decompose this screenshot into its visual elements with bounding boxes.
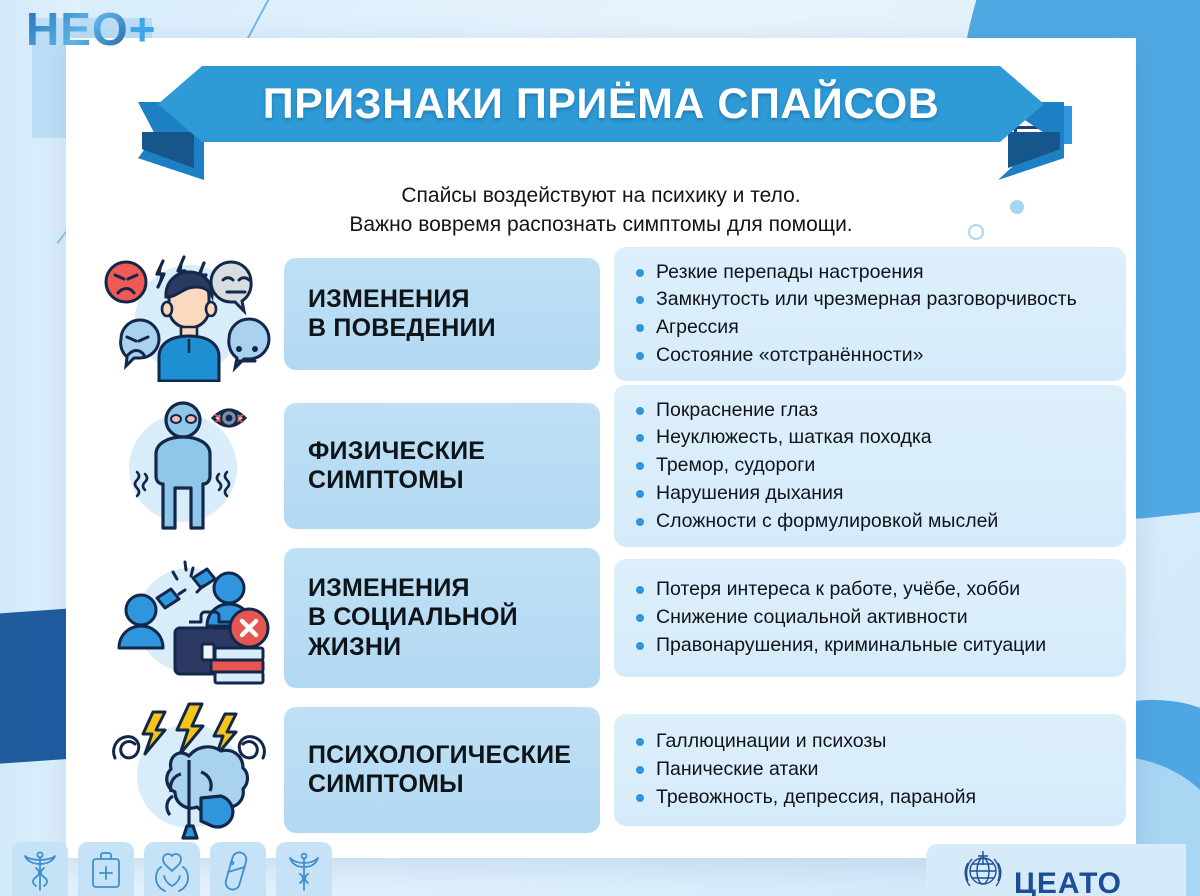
label-line: СИМПТОМЫ: [308, 770, 571, 800]
section-label-psychological: ПСИХОЛОГИЧЕСКИЕ СИМПТОМЫ: [284, 707, 600, 833]
label-line: ИЗМЕНЕНИЯ: [308, 574, 518, 604]
subtitle: Спайсы воздействуют на психику и тело. В…: [66, 182, 1136, 240]
section-label-text: ИЗМЕНЕНИЯ В ПОВЕДЕНИИ: [308, 285, 496, 344]
list-item: Неуклюжесть, шаткая походка: [634, 424, 998, 452]
subtitle-line-2: Важно вовремя распознать симптомы для по…: [66, 211, 1136, 240]
bullet-list: Галлюцинации и психозы Панические атаки …: [634, 728, 976, 811]
list-item: Снижение социальной активности: [634, 604, 1046, 632]
list-item: Покраснение глаз: [634, 397, 998, 425]
trembling-body-red-eye-icon: [92, 396, 284, 536]
bullet-list: Резкие перепады настроения Замкнутость и…: [634, 259, 1077, 370]
label-line: ФИЗИЧЕСКИЕ: [308, 437, 485, 467]
list-item: Галлюцинации и психозы: [634, 728, 976, 756]
section-row-social: ИЗМЕНЕНИЯ В СОЦИАЛЬНОЙ ЖИЗНИ Потеря инте…: [66, 542, 1136, 694]
brand-logo-text: НЕО: [26, 3, 129, 55]
organization-logo: ЦЕАТО: [926, 844, 1186, 896]
label-line: ИЗМЕНЕНИЯ: [308, 285, 496, 315]
list-item: Агрессия: [634, 314, 1077, 342]
section-label-text: ФИЗИЧЕСКИЕ СИМПТОМЫ: [308, 437, 485, 496]
ribbon-arrow-right: [1000, 66, 1044, 142]
list-item: Потеря интереса к работе, учёбе, хобби: [634, 576, 1046, 604]
list-item: Нарушения дыхания: [634, 480, 998, 508]
section-label-text: ПСИХОЛОГИЧЕСКИЕ СИМПТОМЫ: [308, 741, 571, 800]
broken-social-link-briefcase-icon: [92, 548, 284, 688]
section-bullets-psychological: Галлюцинации и психозы Панические атаки …: [614, 714, 1126, 826]
label-line: СИМПТОМЫ: [308, 466, 485, 496]
organization-name: ЦЕАТО: [1014, 867, 1122, 896]
caduceus-icon: [12, 842, 68, 896]
angry-person-emotions-icon: [92, 244, 284, 384]
ribbon-body: ПРИЗНАКИ ПРИЁМА СПАЙСОВ: [202, 66, 1000, 142]
section-label-behaviour: ИЗМЕНЕНИЯ В ПОВЕДЕНИИ: [284, 258, 600, 370]
list-item: Правонарушения, криминальные ситуации: [634, 632, 1046, 660]
medical-kit-icon: [78, 842, 134, 896]
section-bullets-behaviour: Резкие перепады настроения Замкнутость и…: [614, 247, 1126, 382]
bullet-list: Потеря интереса к работе, учёбе, хобби С…: [634, 576, 1046, 659]
section-label-text: ИЗМЕНЕНИЯ В СОЦИАЛЬНОЙ ЖИЗНИ: [308, 574, 518, 663]
list-item: Сложности с формулировкой мыслей: [634, 508, 998, 536]
label-line: ЖИЗНИ: [308, 633, 518, 663]
list-item: Панические атаки: [634, 756, 976, 784]
section-label-social: ИЗМЕНЕНИЯ В СОЦИАЛЬНОЙ ЖИЗНИ: [284, 548, 600, 688]
list-item: Тревожность, депрессия, паранойя: [634, 784, 976, 812]
caduceus-wings-icon: [276, 842, 332, 896]
bullet-list: Покраснение глаз Неуклюжесть, шаткая пох…: [634, 397, 998, 535]
sections-list: ИЗМЕНЕНИЯ В ПОВЕДЕНИИ Резкие перепады на…: [66, 238, 1136, 846]
list-item: Состояние «отстранённости»: [634, 342, 1077, 370]
pill-capsule-icon: [210, 842, 266, 896]
label-line: В СОЦИАЛЬНОЙ: [308, 603, 518, 633]
footer: ЦЕАТО: [0, 840, 1200, 896]
label-line: ПСИХОЛОГИЧЕСКИЕ: [308, 741, 571, 771]
list-item: Тремор, судороги: [634, 452, 998, 480]
brand-logo: НЕО+: [26, 6, 157, 52]
page-title: ПРИЗНАКИ ПРИЁМА СПАЙСОВ: [263, 80, 940, 129]
section-label-physical: ФИЗИЧЕСКИЕ СИМПТОМЫ: [284, 403, 600, 529]
section-bullets-physical: Покраснение глаз Неуклюжесть, шаткая пох…: [614, 385, 1126, 547]
footer-icon-strip: [12, 842, 332, 896]
infographic-card: ПРИЗНАКИ ПРИЁМА СПАЙСОВ Спайсы воздейств…: [66, 38, 1136, 858]
section-row-behaviour: ИЗМЕНЕНИЯ В ПОВЕДЕНИИ Резкие перепады на…: [66, 238, 1136, 390]
section-bullets-social: Потеря интереса к работе, учёбе, хобби С…: [614, 559, 1126, 677]
title-ribbon: ПРИЗНАКИ ПРИЁМА СПАЙСОВ: [66, 66, 1136, 162]
heart-in-hands-icon: [144, 842, 200, 896]
brand-logo-plus: +: [129, 3, 157, 55]
label-line: В ПОВЕДЕНИИ: [308, 314, 496, 344]
brain-lightning-icon: [92, 700, 284, 840]
list-item: Замкнутость или чрезмерная разговорчивос…: [634, 286, 1077, 314]
section-row-psychological: ПСИХОЛОГИЧЕСКИЕ СИМПТОМЫ Галлюцинации и …: [66, 694, 1136, 846]
who-emblem-icon: [960, 847, 1006, 893]
list-item: Резкие перепады настроения: [634, 259, 1077, 287]
section-row-physical: ФИЗИЧЕСКИЕ СИМПТОМЫ Покраснение глаз Неу…: [66, 390, 1136, 542]
subtitle-line-1: Спайсы воздействуют на психику и тело.: [66, 182, 1136, 211]
